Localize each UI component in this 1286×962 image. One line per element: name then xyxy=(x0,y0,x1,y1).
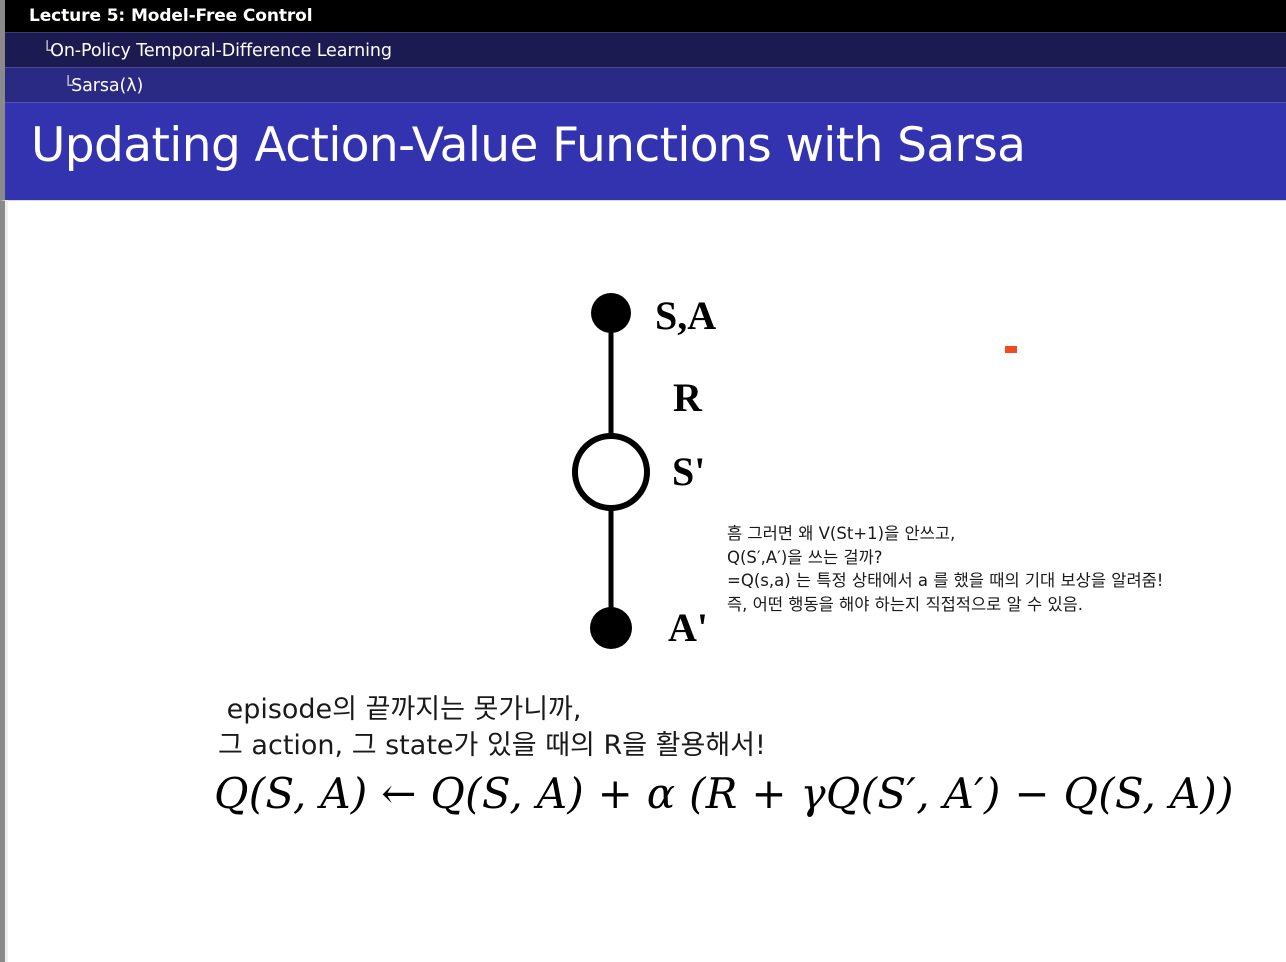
frame-title-band: Updating Action-Value Functions with Sar… xyxy=(0,103,1286,200)
state-action-node xyxy=(591,293,631,333)
slide-left-edge-strip xyxy=(0,0,5,200)
red-highlight-mark xyxy=(1005,346,1017,353)
nav-label-lecture[interactable]: Lecture 5: Model-Free Control xyxy=(29,8,313,25)
sarsa-update-formula: Q(S, A) ← Q(S, A) + α (R + γQ(S′, A′) − … xyxy=(214,770,1234,818)
nav-subsection-text: Sarsa(λ) xyxy=(71,76,143,96)
next-action-node xyxy=(590,607,632,649)
annotation-note-bottom: episode의 끝까지는 못가니까, 그 action, 그 state가 있… xyxy=(218,692,766,764)
next-state-node xyxy=(575,436,647,508)
nav-bar-level-0[interactable]: Lecture 5: Model-Free Control xyxy=(0,0,1286,33)
diagram-label-next-action: A' xyxy=(668,608,708,648)
slide-left-inner-edge xyxy=(5,200,8,962)
nav-bar-level-2[interactable]: └Sarsa(λ) xyxy=(0,68,1286,103)
presentation-slide: Lecture 5: Model-Free Control └On-Policy… xyxy=(0,0,1286,962)
diagram-label-reward: R xyxy=(673,378,702,418)
diagram-label-next-state: S' xyxy=(672,452,705,492)
page-title: Updating Action-Value Functions with Sar… xyxy=(31,119,1025,173)
annotation-note-right: 흠 그러면 왜 V(St+1)을 안쓰고, Q(S′,A′)을 쓰는 걸까? =… xyxy=(727,522,1163,616)
nav-label-section[interactable]: └On-Policy Temporal-Difference Learning xyxy=(42,43,392,61)
nav-section-text: On-Policy Temporal-Difference Learning xyxy=(50,41,392,61)
nav-label-subsection[interactable]: └Sarsa(λ) xyxy=(63,78,143,96)
nav-bar-level-1[interactable]: └On-Policy Temporal-Difference Learning xyxy=(0,33,1286,68)
diagram-label-state-action: S,A xyxy=(655,296,716,336)
